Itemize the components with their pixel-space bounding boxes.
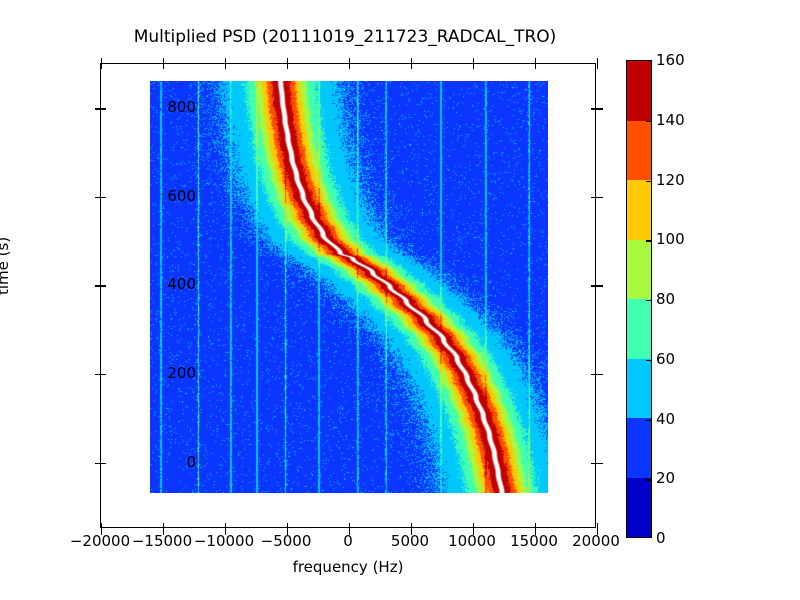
x-tick-label: 20000 [572, 532, 620, 550]
colorbar-tick [646, 240, 652, 241]
x-tick-label: −20000 [70, 532, 130, 550]
spectrogram-image [150, 81, 548, 493]
colorbar-tick-label: 140 [656, 111, 685, 129]
colorbar-band [627, 418, 651, 478]
colorbar-tick-label: 40 [656, 410, 675, 428]
y-tick-right [597, 108, 603, 109]
colorbar-band [627, 61, 651, 121]
colorbar-band [627, 121, 651, 181]
colorbar-tick-label: 60 [656, 350, 675, 368]
y-tick-left-inner [101, 108, 106, 109]
colorbar-band [627, 359, 651, 419]
y-axis-label: time (s) [0, 237, 12, 295]
x-tick-top [597, 64, 598, 69]
x-tick-top [411, 64, 412, 69]
colorbar [626, 60, 652, 538]
colorbar-band [627, 478, 651, 538]
colorbar-tick [646, 479, 652, 480]
x-tick-label: 15000 [510, 532, 558, 550]
y-tick-left-inner [101, 197, 106, 198]
x-tick-label: −5000 [261, 532, 312, 550]
colorbar-tick-label: 0 [656, 529, 666, 547]
x-tick-label: 10000 [448, 532, 496, 550]
x-tick-top [225, 64, 226, 69]
x-tick-label: −15000 [132, 532, 192, 550]
x-tick-top [163, 64, 164, 69]
colorbar-band [627, 240, 651, 300]
x-tick-top [535, 64, 536, 69]
colorbar-tick-label: 100 [656, 230, 685, 248]
y-tick-left-inner [101, 374, 106, 375]
x-tick-label: −10000 [194, 532, 254, 550]
colorbar-tick [646, 360, 652, 361]
y-tick-right [597, 463, 603, 464]
y-tick-label: 800 [167, 98, 196, 116]
colorbar-tick [646, 300, 652, 301]
x-tick-top [349, 64, 350, 69]
x-tick-label: 5000 [391, 532, 429, 550]
colorbar-tick [646, 420, 652, 421]
y-tick-right [597, 374, 603, 375]
x-axis-label: frequency (Hz) [100, 558, 596, 576]
y-tick-label: 600 [167, 187, 196, 205]
colorbar-tick [646, 181, 652, 182]
colorbar-tick-label: 80 [656, 290, 675, 308]
y-tick-label: 0 [186, 453, 196, 471]
x-tick-label: 0 [343, 532, 353, 550]
spectrogram-canvas [150, 81, 548, 493]
x-tick-top [101, 64, 102, 69]
colorbar-tick [646, 121, 652, 122]
colorbar-band [627, 299, 651, 359]
x-tick-top [473, 64, 474, 69]
y-tick-right [597, 285, 603, 286]
y-tick-right [597, 197, 603, 198]
y-tick-label: 400 [167, 275, 196, 293]
x-tick-top [287, 64, 288, 69]
page-title: Multiplied PSD (20111019_211723_RADCAL_T… [0, 27, 690, 47]
y-tick-left-inner [101, 463, 106, 464]
colorbar-band [627, 180, 651, 240]
colorbar-tick-label: 120 [656, 171, 685, 189]
y-tick-left-inner [101, 285, 106, 286]
colorbar-tick-label: 20 [656, 469, 675, 487]
figure-canvas: Multiplied PSD (20111019_211723_RADCAL_T… [0, 0, 800, 600]
colorbar-tick-label: 160 [656, 51, 685, 69]
y-tick-label: 200 [167, 364, 196, 382]
plot-axes [100, 63, 596, 528]
